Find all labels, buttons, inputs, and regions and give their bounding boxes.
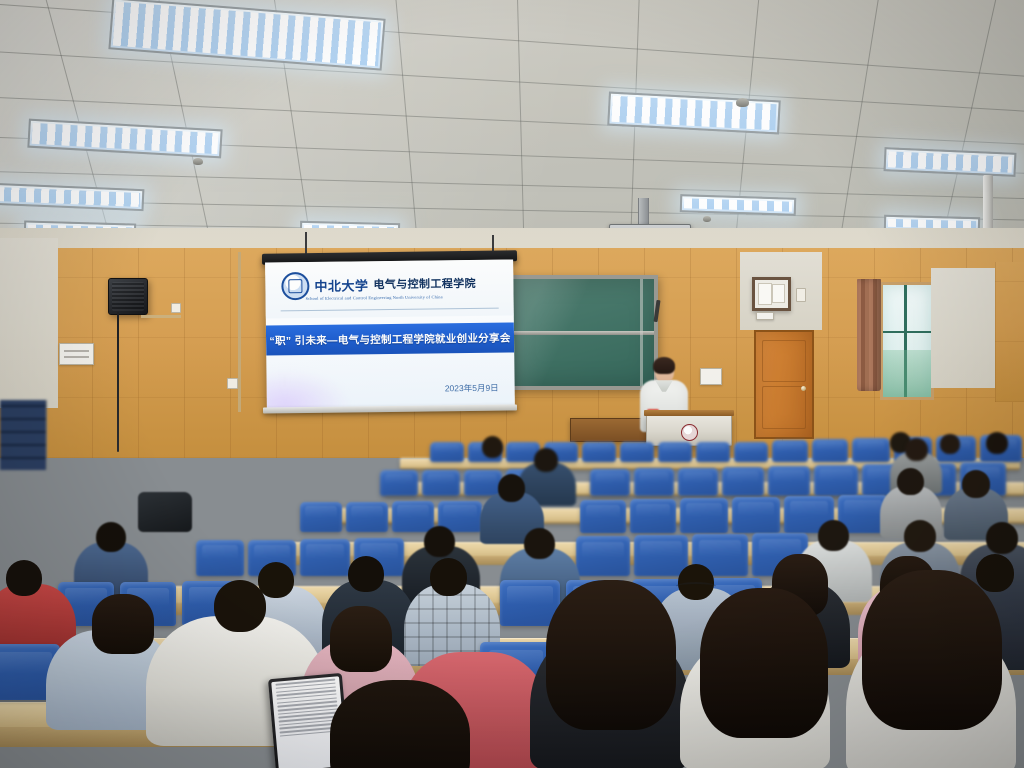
student-head (96, 522, 126, 552)
backpack (138, 492, 192, 532)
seat[interactable] (582, 442, 616, 462)
student-head (976, 554, 1014, 592)
student-hair-long (700, 588, 828, 738)
slide-date: 2023年5月9日 (445, 382, 499, 395)
seat[interactable] (772, 440, 808, 462)
student-head (818, 520, 849, 551)
seat[interactable] (852, 438, 890, 462)
student-head (986, 432, 1008, 454)
student-head (962, 470, 990, 498)
seat[interactable] (634, 468, 674, 496)
student-head (6, 560, 42, 596)
camera-pole (983, 175, 993, 231)
student-head (258, 562, 294, 598)
student-head (424, 526, 455, 557)
wall-socket (227, 378, 238, 389)
sign-line (64, 356, 89, 358)
wall-notice-board (752, 277, 791, 311)
student-head (430, 558, 467, 596)
slide-university-name: 中北大学 (314, 279, 368, 293)
wall-socket (171, 303, 181, 313)
door-panel (762, 340, 806, 382)
student-head (534, 448, 558, 472)
student-head (214, 580, 266, 632)
seat[interactable] (696, 442, 730, 462)
student-head (498, 474, 525, 502)
wall-switch (796, 288, 806, 302)
window-curtain (857, 279, 881, 391)
seat[interactable] (392, 501, 434, 532)
seat[interactable] (722, 467, 764, 496)
projection-screen: 中北大学 电气与控制工程学院 School of Electrical and … (265, 259, 515, 410)
lectern-top (644, 410, 734, 416)
right-wood-corner (995, 262, 1024, 402)
left-plaster-wall (0, 238, 58, 408)
student-head (897, 468, 924, 495)
ceiling-light-panel (680, 194, 797, 216)
seat[interactable] (464, 470, 502, 496)
student-hair-long (92, 594, 154, 654)
window (880, 282, 934, 400)
slide-college-name: 电气与控制工程学院 (373, 278, 476, 290)
door-knob[interactable] (801, 386, 806, 391)
seat[interactable] (430, 442, 464, 462)
student-head (986, 522, 1018, 554)
window-foliage (883, 350, 931, 397)
seat[interactable] (300, 539, 350, 576)
wall-sign (59, 343, 94, 365)
slide-title-band: “职” 引未来—电气与控制工程学院就业创业分享会 (266, 322, 514, 355)
seat[interactable] (576, 536, 630, 576)
student-head (905, 438, 928, 461)
seat[interactable] (658, 442, 692, 462)
chalkboard-panel-divider (640, 279, 643, 386)
seat[interactable] (732, 497, 780, 533)
seat[interactable] (680, 498, 728, 533)
door-panel (762, 386, 806, 429)
smoke-detector-icon (193, 158, 203, 165)
smoke-detector-icon (736, 98, 749, 107)
sign-line (64, 350, 89, 352)
notice-sheet (758, 283, 772, 305)
seat[interactable] (422, 470, 460, 496)
student-head (904, 520, 936, 552)
wall-sign (756, 312, 774, 320)
seat[interactable] (812, 439, 848, 462)
student-hair-long (330, 680, 470, 768)
speaker-grille (112, 282, 144, 311)
seat[interactable] (580, 500, 626, 533)
student-glasses-icon (676, 582, 716, 591)
seat[interactable] (768, 466, 810, 496)
right-wall-panel (931, 268, 995, 388)
seat[interactable] (380, 470, 418, 496)
seat[interactable] (196, 540, 244, 576)
smoke-detector-icon (703, 216, 711, 222)
wall-speaker (108, 278, 148, 315)
wall-trim (141, 315, 181, 318)
presenter-hair (653, 357, 675, 374)
seat[interactable] (300, 502, 342, 532)
seat[interactable] (814, 465, 858, 496)
presentation-slide: 中北大学 电气与控制工程学院 School of Electrical and … (265, 259, 515, 410)
lecture-hall-photo: 中北大学 电气与控制工程学院 School of Electrical and … (0, 0, 1024, 768)
student-hair-long (862, 570, 1002, 730)
student-hair-long (546, 580, 676, 730)
seat[interactable] (590, 469, 630, 496)
wall-sign (700, 368, 722, 385)
student-head (482, 436, 503, 458)
seat[interactable] (630, 499, 676, 533)
seat[interactable] (678, 468, 718, 496)
ceiling (0, 0, 1024, 260)
student-hair-long (330, 606, 392, 672)
chalkboard-rail (511, 331, 654, 335)
seat[interactable] (634, 535, 688, 576)
notice-sheet (772, 284, 785, 303)
screen-glare (265, 368, 351, 410)
student-head (524, 528, 555, 559)
seat[interactable] (346, 502, 388, 532)
student-head (348, 556, 384, 592)
wall-conduit (238, 252, 241, 412)
seat[interactable] (734, 442, 768, 462)
audience-seating (0, 430, 1024, 768)
window-mullion (883, 331, 931, 333)
slide-title: “职” 引未来—电气与控制工程学院就业创业分享会 (269, 330, 510, 348)
classroom-door[interactable] (754, 330, 814, 439)
student-head (940, 434, 960, 454)
seat[interactable] (620, 442, 654, 462)
chalkboard (507, 275, 658, 390)
